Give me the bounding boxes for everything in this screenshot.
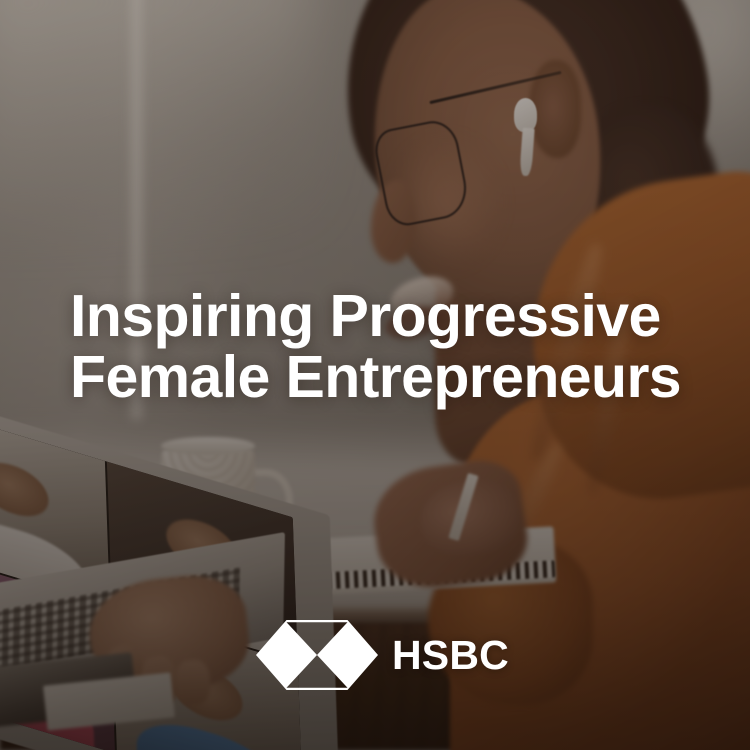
hsbc-social-ad: Inspiring Progressive Female Entrepreneu…	[0, 0, 750, 750]
headline-text: Inspiring Progressive Female Entrepreneu…	[70, 286, 710, 408]
hsbc-hexagon-logo-icon	[256, 620, 378, 690]
hsbc-wordmark: HSBC	[392, 635, 509, 676]
hsbc-brand-lockup: HSBC	[256, 620, 509, 690]
